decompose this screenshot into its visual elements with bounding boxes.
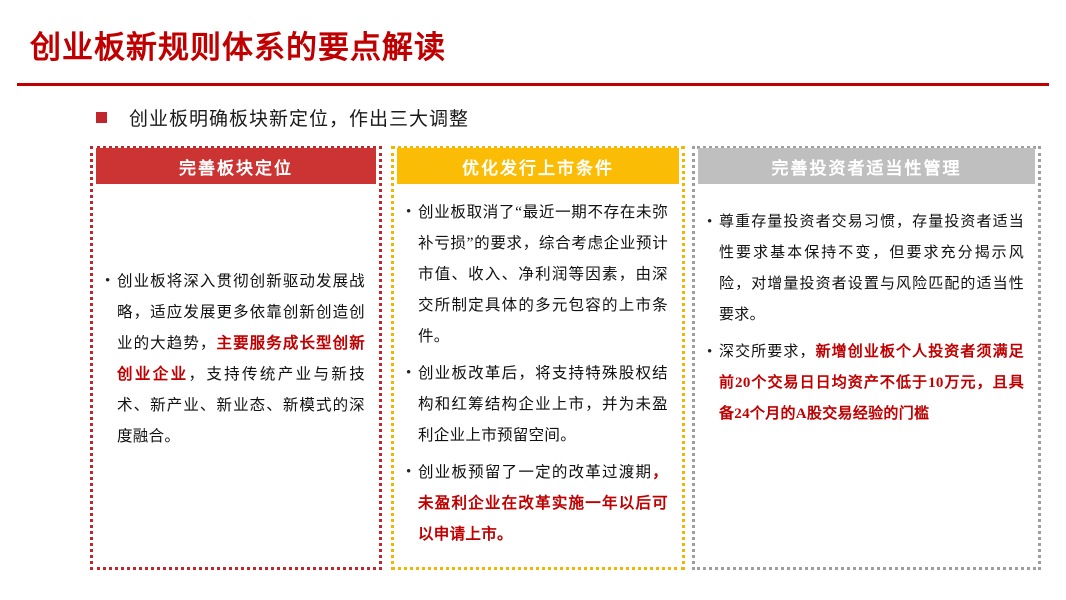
list-item-text: 深交所要求，新增创业板个人投资者须满足前20个交易日日均资产不低于10万元，且具… xyxy=(719,337,1024,430)
body-text: 创业板取消了“最近一期不存在未弥补亏损”的要求，综合考虑企业预计市值、收入、净利… xyxy=(418,204,668,345)
column-header-listing-conditions: 优化发行上市条件 xyxy=(397,148,679,184)
column-body-investor-suitability: • 尊重存量投资者交易习惯，存量投资者适当性要求基本保持不变，但要求充分揭示风险… xyxy=(695,185,1038,567)
column-header-investor-suitability: 完善投资者适当性管理 xyxy=(698,148,1035,184)
bullet-icon: • xyxy=(406,358,418,389)
list-item-text: 创业板将深入贯彻创新驱动发展战略，适应发展更多依靠创新创造创业的大趋势，主要服务… xyxy=(117,266,365,452)
bullet-icon: • xyxy=(406,197,418,228)
bullet-icon: • xyxy=(707,337,719,368)
column-body-listing-conditions: • 创业板取消了“最近一期不存在未弥补亏损”的要求，综合考虑企业预计市值、收入、… xyxy=(394,185,682,567)
list-item: • 深交所要求，新增创业板个人投资者须满足前20个交易日日均资产不低于10万元，… xyxy=(707,337,1024,430)
title-divider xyxy=(17,83,1049,86)
subheading: 创业板明确板块新定位，作出三大调整 xyxy=(96,104,469,131)
page-title: 创业板新规则体系的要点解读 xyxy=(30,22,446,67)
column-listing-conditions[interactable]: 优化发行上市条件 • 创业板取消了“最近一期不存在未弥补亏损”的要求，综合考虑企… xyxy=(391,146,685,570)
bullet-icon: • xyxy=(707,207,719,238)
list-item-text: 创业板预留了一定的改革过渡期，未盈利企业在改革实施一年以后可以申请上市。 xyxy=(418,457,668,550)
list-item: • 创业板将深入贯彻创新驱动发展战略，适应发展更多依靠创新创造创业的大趋势，主要… xyxy=(105,266,365,452)
body-text: 创业板改革后，将支持特殊股权结构和红筹结构企业上市，并为未盈利企业上市预留空间。 xyxy=(418,365,668,444)
body-text: 创业板预留了一定的改革过渡期 xyxy=(418,464,652,481)
list-item: • 创业板改革后，将支持特殊股权结构和红筹结构企业上市，并为未盈利企业上市预留空… xyxy=(406,358,668,451)
list-item: • 创业板预留了一定的改革过渡期，未盈利企业在改革实施一年以后可以申请上市。 xyxy=(406,457,668,550)
body-text: 深交所要求， xyxy=(719,344,816,360)
list-item: • 尊重存量投资者交易习惯，存量投资者适当性要求基本保持不变，但要求充分揭示风险… xyxy=(707,207,1024,331)
list-item: • 创业板取消了“最近一期不存在未弥补亏损”的要求，综合考虑企业预计市值、收入、… xyxy=(406,197,668,352)
bullet-icon: • xyxy=(105,266,117,297)
list-item-text: 创业板取消了“最近一期不存在未弥补亏损”的要求，综合考虑企业预计市值、收入、净利… xyxy=(418,197,668,352)
column-body-board-positioning: • 创业板将深入贯彻创新驱动发展战略，适应发展更多依靠创新创造创业的大趋势，主要… xyxy=(93,185,379,567)
bullet-icon: • xyxy=(406,457,418,488)
subheading-label: 创业板明确板块新定位，作出三大调整 xyxy=(129,104,469,131)
column-header-board-positioning: 完善板块定位 xyxy=(96,148,376,184)
list-item-text: 创业板改革后，将支持特殊股权结构和红筹结构企业上市，并为未盈利企业上市预留空间。 xyxy=(418,358,668,451)
square-bullet-icon xyxy=(96,112,107,123)
column-investor-suitability[interactable]: 完善投资者适当性管理 • 尊重存量投资者交易习惯，存量投资者适当性要求基本保持不… xyxy=(692,146,1041,570)
list-item-text: 尊重存量投资者交易习惯，存量投资者适当性要求基本保持不变，但要求充分揭示风险，对… xyxy=(719,207,1024,331)
body-text: 尊重存量投资者交易习惯，存量投资者适当性要求基本保持不变，但要求充分揭示风险，对… xyxy=(719,214,1024,323)
column-board-positioning[interactable]: 完善板块定位 • 创业板将深入贯彻创新驱动发展战略，适应发展更多依靠创新创造创业… xyxy=(90,146,382,570)
